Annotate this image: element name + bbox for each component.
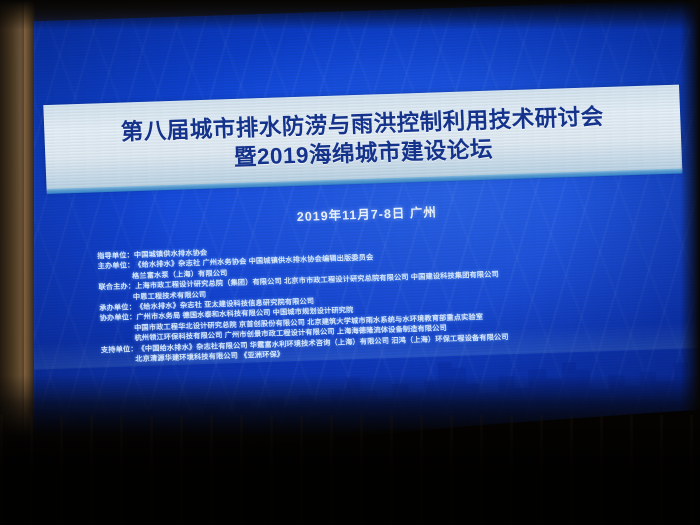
top-shadow bbox=[0, 0, 700, 30]
photo-scene: 第八届城市排水防涝与雨洪控制利用技术研讨会 暨2019海绵城市建设论坛 2019… bbox=[0, 0, 700, 525]
foreground-soft-gradient bbox=[0, 395, 700, 525]
